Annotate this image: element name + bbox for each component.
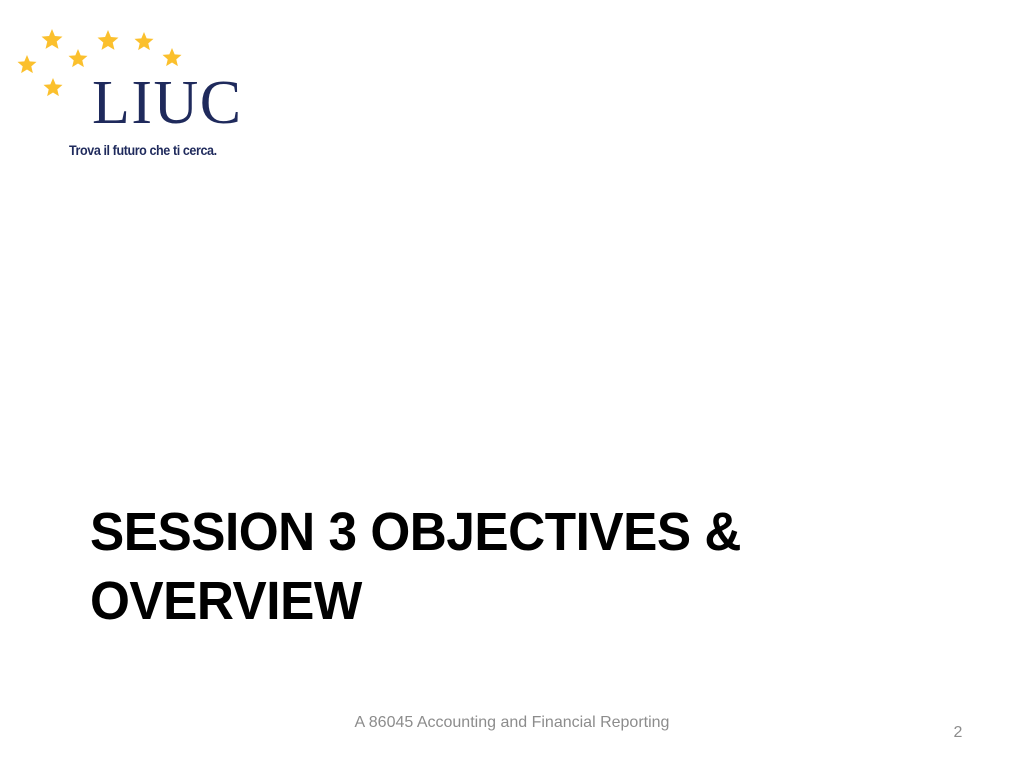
- star-icon: [98, 30, 119, 50]
- page-title: SESSION 3 OBJECTIVES & OVERVIEW: [90, 498, 755, 636]
- star-icon: [17, 55, 36, 73]
- page-number: 2: [918, 723, 998, 743]
- star-icon: [42, 29, 63, 49]
- liuc-tagline: Trova il futuro che ti cerca.: [69, 143, 255, 158]
- slide-canvas: LIUC Trova il futuro che ti cerca. SESSI…: [0, 0, 1024, 768]
- star-icon: [43, 78, 62, 96]
- title-block: SESSION 3 OBJECTIVES & OVERVIEW: [90, 498, 790, 636]
- star-icon: [68, 49, 87, 67]
- footer-course-label: A 86045 Accounting and Financial Reporti…: [332, 712, 692, 733]
- liuc-logo: LIUC Trova il futuro che ti cerca.: [0, 0, 260, 175]
- liuc-wordmark: LIUC: [92, 72, 232, 134]
- star-icon: [134, 32, 153, 50]
- star-icon: [162, 48, 181, 66]
